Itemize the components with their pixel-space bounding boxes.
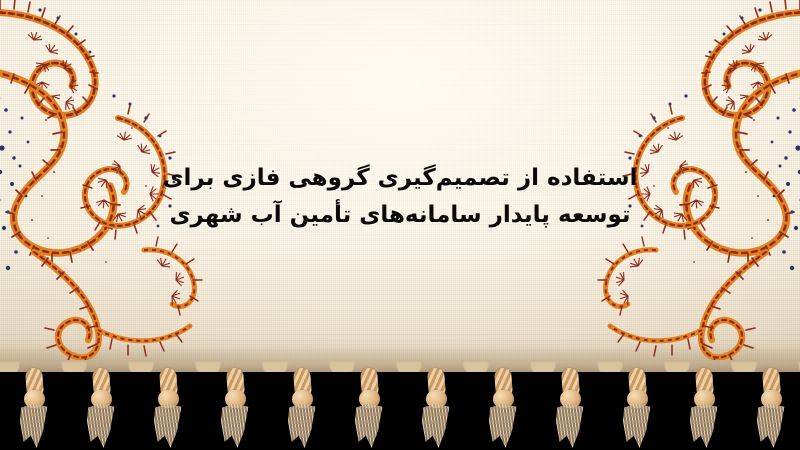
tassel <box>469 372 536 450</box>
knotted-tassel-fringe <box>0 372 800 450</box>
title-line-1: استفاده از تصمیم‌گیری گروهی فازی برای <box>0 160 800 197</box>
tassel <box>335 372 402 450</box>
title-slide: استفاده از تصمیم‌گیری گروهی فازی برای تو… <box>0 0 800 450</box>
tassel <box>0 372 67 450</box>
title-line-2: توسعه پایدار سامانه‌های تأمین آب شهری <box>0 197 800 234</box>
tassel <box>201 372 268 450</box>
tassel <box>67 372 134 450</box>
tassel <box>268 372 335 450</box>
slide-title: استفاده از تصمیم‌گیری گروهی فازی برای تو… <box>0 160 800 234</box>
tassel <box>737 372 800 450</box>
tassel <box>670 372 737 450</box>
tassel <box>536 372 603 450</box>
tassel <box>402 372 469 450</box>
tassel <box>603 372 670 450</box>
tassel <box>134 372 201 450</box>
